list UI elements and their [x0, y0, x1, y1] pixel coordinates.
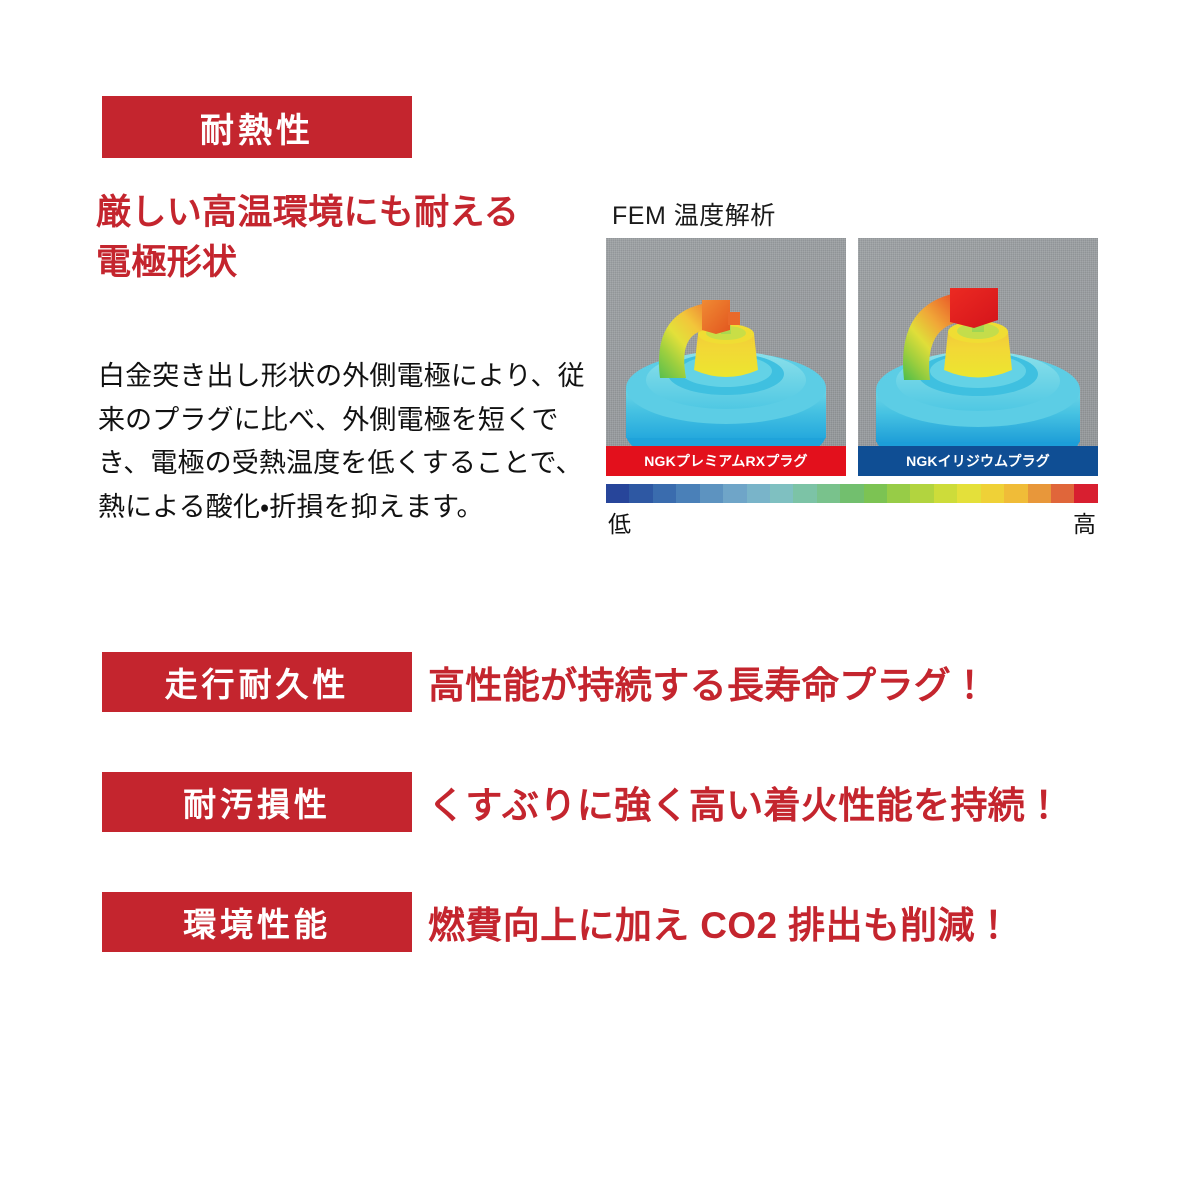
scale-swatch-18 [1028, 484, 1051, 503]
fem-panel-group: NGKプレミアムRXプラグ [606, 238, 1098, 476]
spark-plug-thermal-render-rx [606, 238, 846, 476]
temperature-scale-bar [606, 484, 1098, 503]
fem-panel-label-premium-rx: NGKプレミアムRXプラグ [606, 446, 846, 476]
feature-row: 耐汚損性くすぶりに強く高い着火性能を持続！ [0, 760, 1200, 880]
scale-swatch-9 [817, 484, 840, 503]
scale-swatch-4 [700, 484, 723, 503]
scale-swatch-19 [1051, 484, 1074, 503]
scale-swatch-3 [676, 484, 699, 503]
section-badge-heat-resistance: 耐熱性 [102, 96, 412, 158]
heat-resistance-section: 耐熱性 厳しい高温環境にも耐える 電極形状 白金突き出し形状の外側電極により、従… [0, 0, 1200, 600]
temperature-scale-labels: 低 高 [606, 505, 1098, 537]
feature-badge-1: 耐汚損性 [102, 772, 412, 832]
scale-swatch-12 [887, 484, 910, 503]
scale-swatch-11 [864, 484, 887, 503]
scale-swatch-14 [934, 484, 957, 503]
feature-list: 走行耐久性高性能が持続する長寿命プラグ！耐汚損性くすぶりに強く高い着火性能を持続… [0, 640, 1200, 1000]
heat-body-text: 白金突き出し形状の外側電極により、従来のプラグに比べ、外側電極を短くでき、電極の… [98, 355, 598, 530]
scale-swatch-8 [793, 484, 816, 503]
feature-text-1: くすぶりに強く高い着火性能を持続！ [428, 772, 1063, 832]
spark-plug-thermal-render-iridium [858, 238, 1098, 476]
fem-panel-label-iridium: NGKイリジウムプラグ [858, 446, 1098, 476]
scale-swatch-13 [910, 484, 933, 503]
scale-swatch-20 [1074, 484, 1097, 503]
scale-swatch-16 [981, 484, 1004, 503]
heat-headline-line1: 厳しい高温環境にも耐える [96, 188, 616, 238]
scale-swatch-6 [747, 484, 770, 503]
scale-swatch-1 [629, 484, 652, 503]
heat-headline: 厳しい高温環境にも耐える 電極形状 [96, 188, 616, 287]
feature-text-2: 燃費向上に加え CO2 排出も削減！ [428, 892, 1012, 952]
scale-swatch-0 [606, 484, 629, 503]
feature-row: 環境性能燃費向上に加え CO2 排出も削減！ [0, 880, 1200, 1000]
scale-label-low: 低 [608, 505, 631, 539]
fem-panel-iridium: NGKイリジウムプラグ [858, 238, 1098, 476]
scale-swatch-15 [957, 484, 980, 503]
feature-badge-0: 走行耐久性 [102, 652, 412, 712]
thermal-render-svg-rx [606, 238, 846, 476]
heat-headline-line2: 電極形状 [96, 238, 616, 288]
scale-label-high: 高 [1073, 505, 1096, 539]
thermal-render-svg-iridium [858, 238, 1098, 476]
feature-row: 走行耐久性高性能が持続する長寿命プラグ！ [0, 640, 1200, 760]
feature-text-0: 高性能が持続する長寿命プラグ！ [428, 652, 989, 712]
scale-swatch-17 [1004, 484, 1027, 503]
feature-badge-2: 環境性能 [102, 892, 412, 952]
scale-swatch-10 [840, 484, 863, 503]
fem-title: FEM 温度解析 [612, 196, 776, 232]
scale-swatch-7 [770, 484, 793, 503]
fem-panel-premium-rx: NGKプレミアムRXプラグ [606, 238, 846, 476]
fem-analysis-block: FEM 温度解析 [606, 196, 1098, 532]
scale-swatch-5 [723, 484, 746, 503]
scale-swatch-2 [653, 484, 676, 503]
page-root: 耐熱性 厳しい高温環境にも耐える 電極形状 白金突き出し形状の外側電極により、従… [0, 0, 1200, 1200]
temperature-scale: 低 高 [606, 484, 1098, 537]
